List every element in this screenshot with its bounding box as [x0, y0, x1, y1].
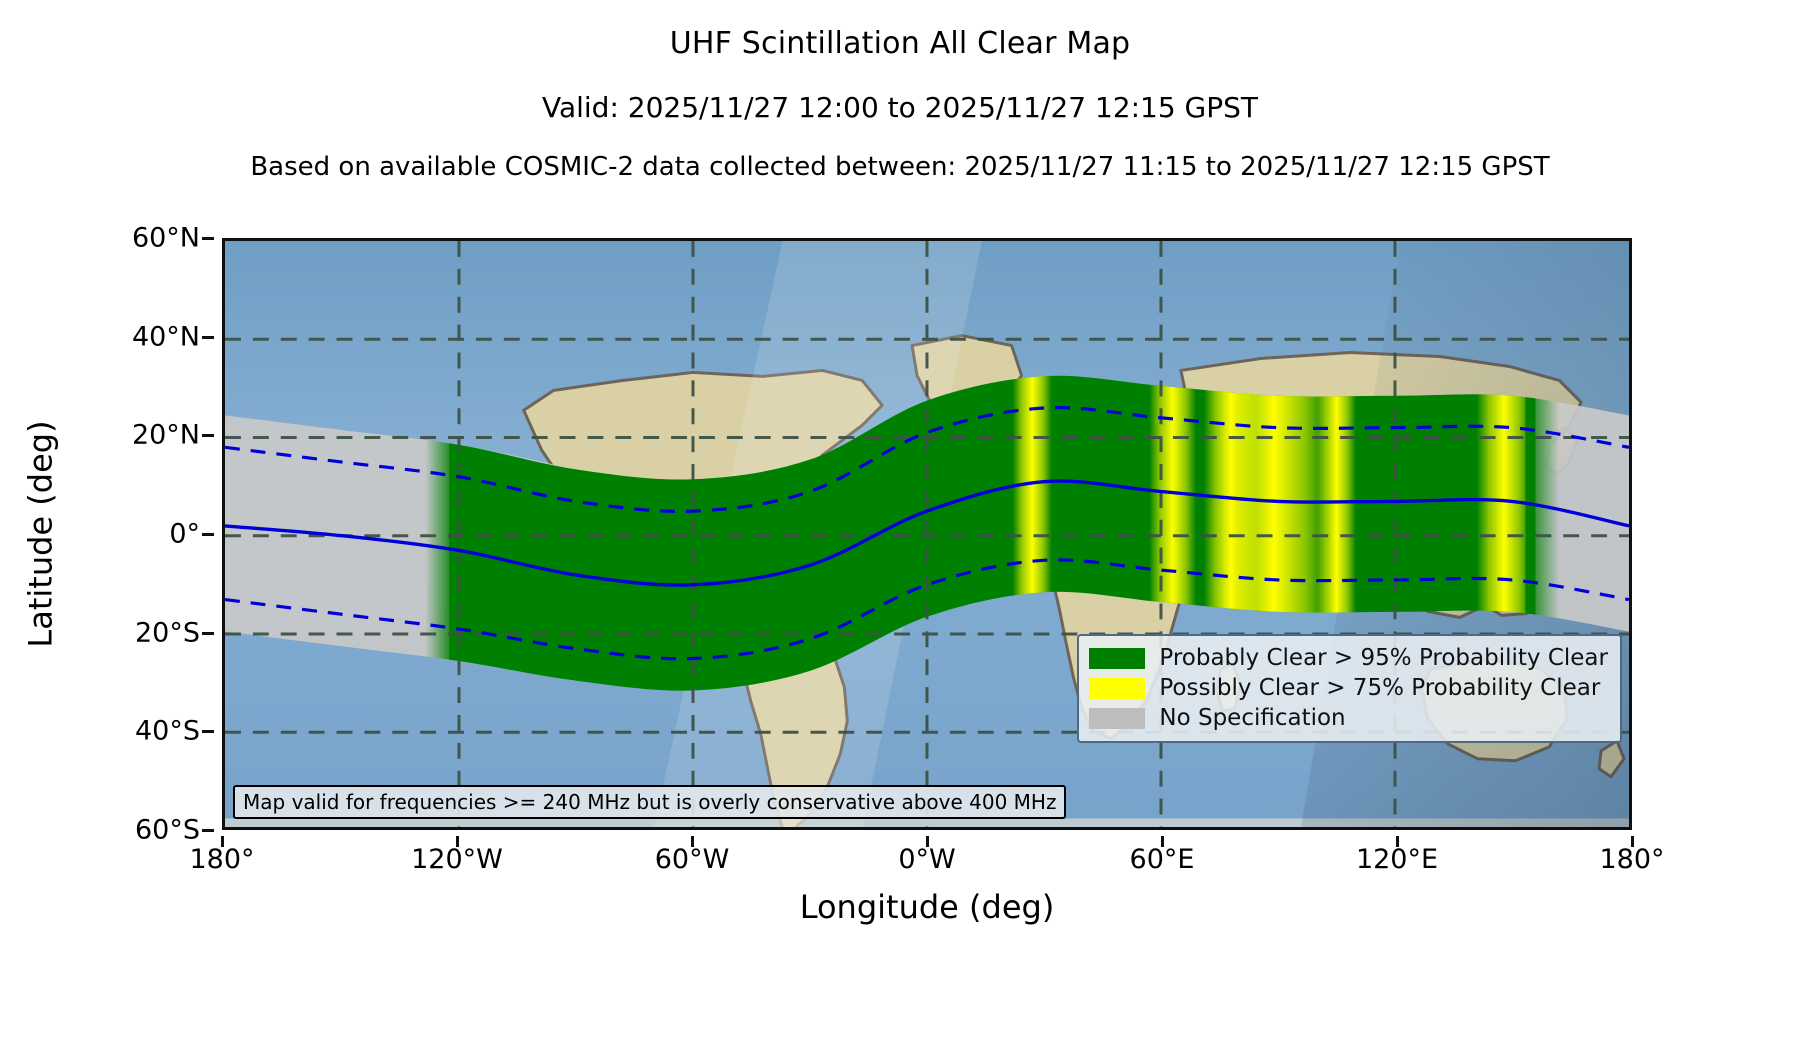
x-axis-title-text: Longitude (deg) [800, 888, 1055, 926]
frequency-note-box: Map valid for frequencies >= 240 MHz but… [233, 785, 1066, 819]
y-tick-mark [202, 434, 214, 437]
legend-label: Possibly Clear > 75% Probability Clear [1159, 675, 1600, 701]
y-tick-mark [202, 632, 214, 635]
y-tick-mark [202, 829, 214, 832]
valid-period-text: Valid: 2025/11/27 12:00 to 2025/11/27 12… [0, 91, 1800, 124]
x-tick-mark [691, 836, 694, 847]
legend-swatch-possibly-clear [1089, 678, 1145, 699]
y-tick-label: 60°S [135, 815, 200, 846]
y-tick-label: 0° [169, 519, 200, 550]
y-tick-mark [202, 533, 214, 536]
title-block: UHF Scintillation All Clear Map Valid: 2… [0, 0, 1800, 182]
x-tick-mark [221, 836, 224, 847]
x-tick-label: 0°W [898, 844, 955, 875]
x-tick-label: 180° [189, 844, 254, 875]
map-legend[interactable]: Probably Clear > 95% Probability ClearPo… [1077, 634, 1622, 743]
x-tick-mark [1631, 836, 1634, 847]
legend-item-no-specification[interactable]: No Specification [1089, 703, 1608, 733]
x-tick-mark [456, 836, 459, 847]
y-tick-label: 40°N [132, 321, 200, 352]
legend-item-probably-clear[interactable]: Probably Clear > 95% Probability Clear [1089, 643, 1608, 673]
x-tick-label: 60°E [1130, 844, 1195, 875]
page-title: UHF Scintillation All Clear Map [0, 26, 1800, 61]
x-tick-label: 60°W [655, 844, 730, 875]
y-axis-title-text: Latitude (deg) [22, 420, 60, 647]
y-tick-label: 40°S [135, 716, 200, 747]
x-axis-tick-labels: 180°120°W60°W0°W60°E120°E180° [222, 836, 1632, 896]
legend-swatch-probably-clear [1089, 648, 1145, 669]
x-tick-label: 120°W [411, 844, 503, 875]
y-tick-mark [202, 730, 214, 733]
y-tick-mark [202, 336, 214, 339]
y-axis-title: Latitude (deg) [18, 238, 64, 830]
map-plot-area[interactable]: Probably Clear > 95% Probability ClearPo… [222, 238, 1632, 830]
legend-label: No Specification [1159, 705, 1345, 731]
legend-label: Probably Clear > 95% Probability Clear [1159, 645, 1608, 671]
legend-item-possibly-clear[interactable]: Possibly Clear > 75% Probability Clear [1089, 673, 1608, 703]
y-tick-label: 60°N [132, 223, 200, 254]
legend-swatch-no-specification [1089, 708, 1145, 729]
x-tick-label: 180° [1599, 844, 1664, 875]
x-tick-label: 120°E [1356, 844, 1438, 875]
x-tick-mark [926, 836, 929, 847]
data-source-text: Based on available COSMIC-2 data collect… [0, 152, 1800, 182]
y-tick-label: 20°N [132, 420, 200, 451]
x-tick-mark [1161, 836, 1164, 847]
frequency-note-text: Map valid for frequencies >= 240 MHz but… [243, 790, 1056, 814]
y-tick-mark [202, 237, 214, 240]
x-tick-mark [1396, 836, 1399, 847]
x-axis-title: Longitude (deg) [222, 888, 1632, 926]
y-tick-label: 20°S [135, 617, 200, 648]
